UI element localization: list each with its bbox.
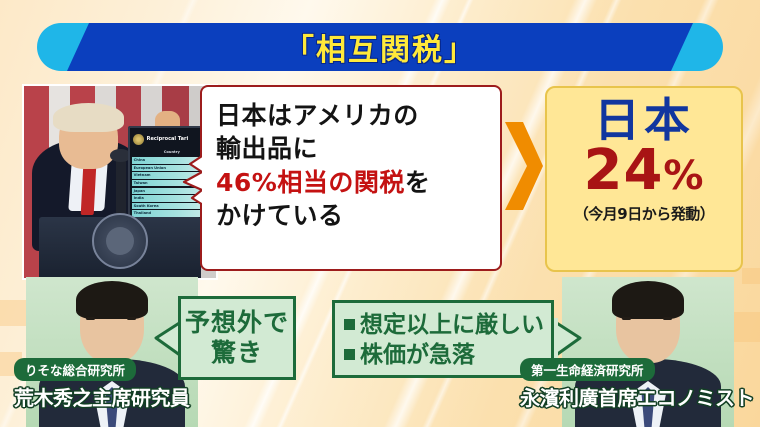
expert-right-hair (612, 281, 684, 319)
podium-seal-icon (92, 213, 148, 269)
speaker-tie (80, 165, 96, 215)
comment-right-text-1: 想定以上に厳しい (360, 312, 544, 338)
speaker-hair (53, 103, 124, 132)
bubble-highlight: 46%相当の関税 (216, 168, 405, 197)
speech-bubble-tail (182, 150, 208, 210)
expert-left-name: 荒木秀之主席研究員 (14, 382, 190, 411)
header-title-bar: 「相互関税」 (37, 23, 723, 71)
bubble-line-1: 日本はアメリカの (216, 99, 490, 132)
comment-right-text-2: 株価が急落 (360, 342, 475, 368)
expert-left-nameplate: りそな総合研究所 荒木秀之主席研究員 (14, 358, 190, 411)
panel-rate-value: 24% (547, 144, 741, 197)
comment-right-line-1: 想定以上に厳しい (344, 310, 551, 340)
expert-right-eye (663, 317, 672, 320)
comment-left-box: 予想外で 驚き (178, 296, 296, 380)
expert-left-eye (86, 317, 95, 320)
comment-right-tail (552, 318, 584, 360)
rate-number: 24 (583, 138, 663, 203)
board-title: Reciprocal Tari (147, 136, 189, 142)
expert-right-eye (622, 317, 631, 320)
expert-left-org: りそな総合研究所 (14, 358, 136, 381)
page-title: 「相互関税」 (37, 23, 723, 71)
speech-bubble-text: 日本はアメリカの 輸出品に 46%相当の関税を かけている (216, 99, 490, 232)
expert-right-name: 永濱利廣首席エコノミスト (520, 382, 754, 411)
bullet-square-icon (344, 319, 355, 330)
bubble-line-4: かけている (216, 199, 490, 232)
percent-sign: % (663, 153, 704, 199)
japan-rate-panel: 日本 24% （今月9日から発動） (545, 86, 743, 272)
expert-right-org: 第一生命経済研究所 (520, 358, 655, 381)
panel-effective-note: （今月9日から発動） (547, 203, 741, 224)
panel-country-label: 日本 (547, 96, 741, 144)
bubble-line-3-tail: を (405, 168, 431, 197)
bubble-line-3: 46%相当の関税を (216, 166, 490, 199)
expert-right-nameplate: 第一生命経済研究所 永濱利廣首席エコノミスト (520, 358, 754, 411)
orange-arrow (503, 120, 543, 212)
microphone-icon (116, 157, 126, 215)
comment-left-line-1: 予想外で (185, 308, 289, 338)
expert-left-eye (127, 317, 136, 320)
comment-left-line-2: 驚き (211, 338, 263, 368)
podium (39, 217, 200, 278)
news-graphic-stage: 「相互関税」 Reciprocal Tari Country ChinaEuro… (0, 0, 760, 427)
expert-left-hair (76, 281, 148, 319)
bubble-line-2: 輸出品に (216, 132, 490, 165)
speech-bubble: 日本はアメリカの 輸出品に 46%相当の関税を かけている (200, 85, 502, 271)
presidential-seal-icon (133, 134, 144, 145)
bullet-square-icon (344, 349, 355, 360)
